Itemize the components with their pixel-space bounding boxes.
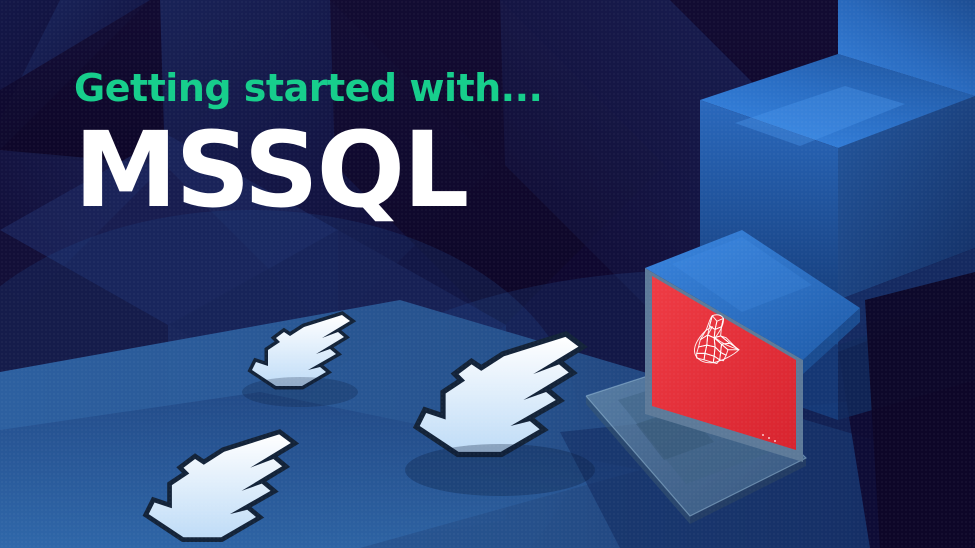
kicker-text: Getting started with... (74, 66, 543, 110)
cursor-shadow-center (405, 444, 595, 496)
cursor-shadow-small (242, 377, 358, 407)
bg-right-vignette (865, 272, 975, 548)
page-title: MSSQL (74, 118, 467, 222)
banner-canvas: Getting started with... MSSQL (0, 0, 975, 548)
